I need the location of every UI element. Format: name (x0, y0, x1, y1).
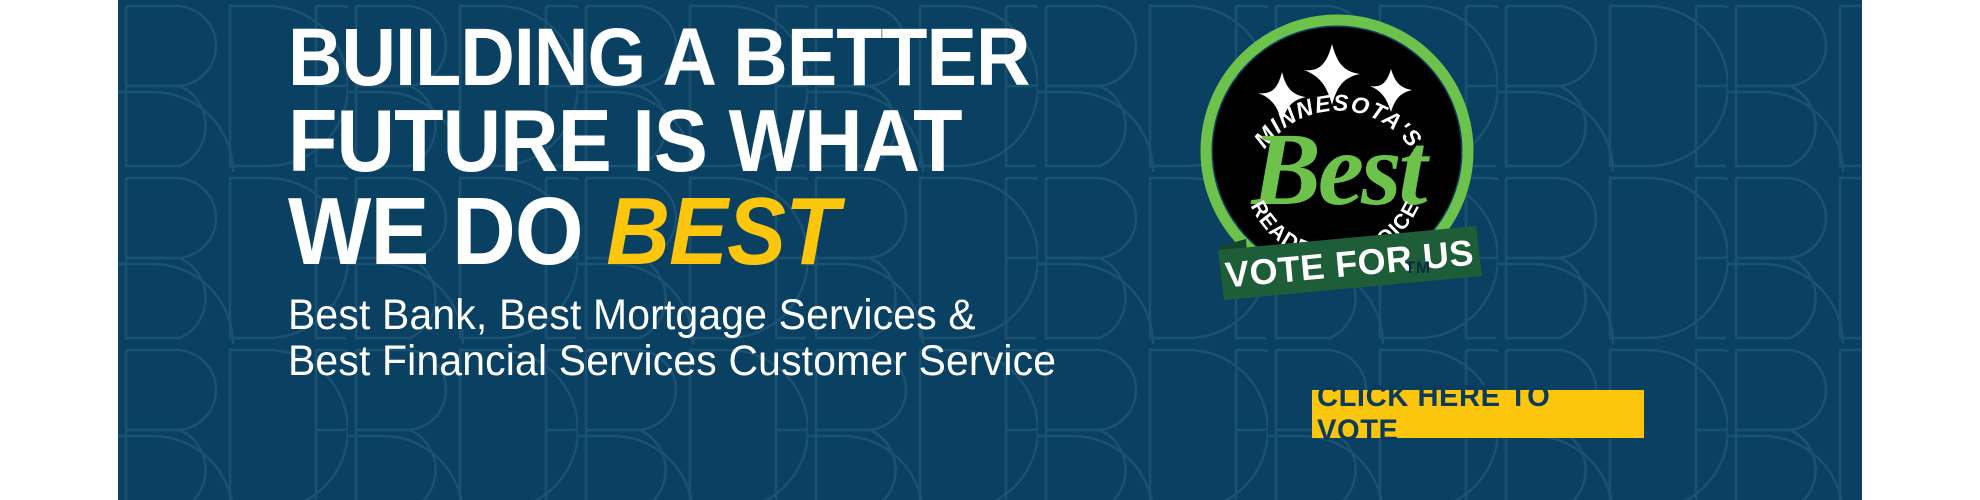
headline-line-3: WE DO BEST (288, 185, 1024, 279)
headline-accent-best: BEST (606, 178, 838, 285)
subheadline-line-1: Best Bank, Best Mortgage Services & (288, 292, 1105, 338)
subheadline-block: Best Bank, Best Mortgage Services & Best… (288, 292, 1148, 385)
headline-line-2: FUTURE IS WHAT (288, 98, 1024, 184)
click-here-to-vote-button[interactable]: CLICK HERE TO VOTE (1312, 390, 1644, 438)
badge-trademark-mark: TM (1405, 258, 1431, 278)
headline-line-1: BUILDING A BETTER (288, 18, 1024, 98)
subheadline-line-2: Best Financial Services Customer Service (288, 338, 1105, 384)
headline-block: BUILDING A BETTER FUTURE IS WHAT WE DO B… (288, 18, 1088, 279)
minnesotas-best-award-badge[interactable]: MINNESOTA'S Best READERS' CHOICE VOTE FO… (1192, 8, 1482, 308)
promo-banner: BUILDING A BETTER FUTURE IS WHAT WE DO B… (0, 0, 1980, 500)
cta-label: CLICK HERE TO VOTE (1317, 380, 1639, 448)
banner-navy-panel: BUILDING A BETTER FUTURE IS WHAT WE DO B… (118, 0, 1862, 500)
headline-line-3-prefix: WE DO (288, 178, 606, 285)
